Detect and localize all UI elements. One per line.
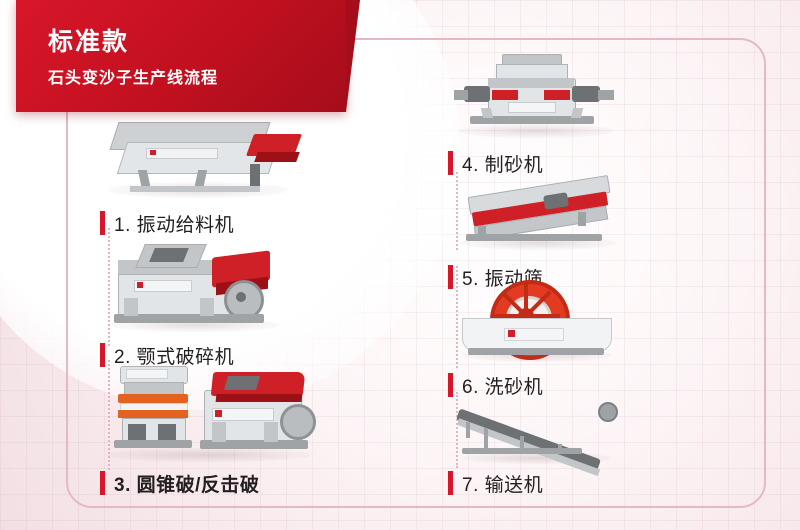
belt-conveyor-icon: [448, 398, 628, 464]
step-6-accent-bar: [448, 373, 453, 397]
step-6-label-row: 6. 洗砂机: [448, 372, 628, 398]
step-4-label-row: 4. 制砂机: [448, 150, 628, 176]
step-7-accent-bar: [448, 471, 453, 495]
title-banner: 标准款 石头变沙子生产线流程: [16, 0, 346, 112]
sand-making-machine-icon: [448, 52, 628, 138]
step-1[interactable]: 1. 振动给料机: [100, 112, 300, 236]
step-7-label: 7. 输送机: [462, 470, 543, 497]
step-1-accent-bar: [100, 211, 105, 235]
step-6-label: 6. 洗砂机: [462, 372, 543, 399]
step-3[interactable]: 3. 圆锥破/反击破: [100, 360, 320, 496]
poster-subtitle: 石头变沙子生产线流程: [48, 64, 218, 88]
step-5[interactable]: 5. 振动筛: [448, 178, 628, 290]
step-4-label: 4. 制砂机: [462, 150, 543, 177]
step-3-accent-bar: [100, 471, 105, 495]
step-1-label: 1. 振动给料机: [114, 210, 234, 237]
step-7[interactable]: 7. 输送机: [448, 398, 628, 496]
step-1-label-row: 1. 振动给料机: [100, 210, 300, 236]
step-3-label-row: 3. 圆锥破/反击破: [100, 470, 320, 496]
sand-washer-icon: [448, 278, 628, 362]
vibrating-screen-icon: [448, 178, 628, 250]
cone-and-impact-crusher-icon: [100, 360, 320, 462]
step-4-accent-bar: [448, 151, 453, 175]
step-4[interactable]: 4. 制砂机: [448, 52, 628, 176]
poster-title: 标准款: [48, 22, 129, 58]
process-flow-poster: 标准款 石头变沙子生产线流程 1. 振动给料机: [0, 0, 800, 530]
step-2[interactable]: 2. 颚式破碎机: [100, 236, 290, 368]
step-6[interactable]: 6. 洗砂机: [448, 278, 628, 398]
vibrating-feeder-icon: [100, 112, 300, 198]
step-3-label: 3. 圆锥破/反击破: [114, 470, 259, 497]
jaw-crusher-icon: [100, 236, 290, 332]
step-7-label-row: 7. 输送机: [448, 470, 628, 496]
